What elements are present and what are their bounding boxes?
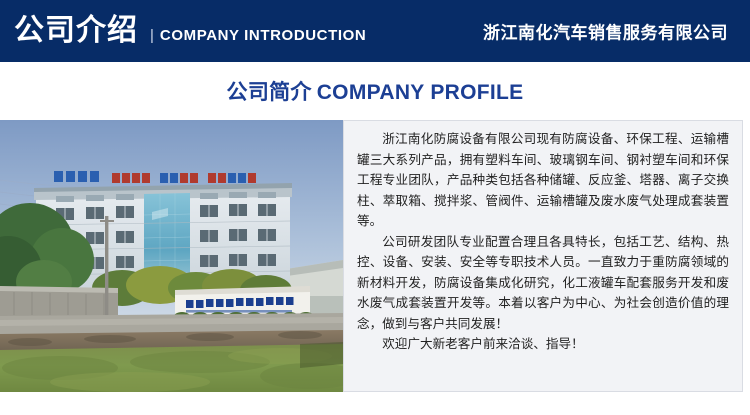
section-title: 公司简介COMPANY PROFILE (227, 76, 524, 106)
header-title-separator: | (150, 27, 154, 44)
section-title-container: 公司简介COMPANY PROFILE (0, 62, 750, 120)
header-title-en: COMPANY INTRODUCTION (160, 27, 366, 44)
profile-paragraph-1: 浙江南化防腐设备有限公司现有防腐设备、环保工程、运输槽罐三大系列产品，拥有塑料车… (357, 129, 729, 232)
header-company-name: 浙江南化汽车销售服务有限公司 (483, 19, 728, 44)
section-title-cn: 公司简介 (227, 81, 312, 104)
profile-paragraph-2: 公司研发团队专业配置合理且各具特长，包括工艺、结构、热控、设备、安装、安全等专职… (357, 232, 729, 335)
company-profile-text-panel: 浙江南化防腐设备有限公司现有防腐设备、环保工程、运输槽罐三大系列产品，拥有塑料车… (343, 120, 743, 392)
rooftop-sign-red (112, 173, 256, 183)
factory-photo-graphic (0, 120, 343, 392)
page-header: 公司介绍 | COMPANY INTRODUCTION 浙江南化汽车销售服务有限… (0, 0, 750, 62)
section-title-en: COMPANY PROFILE (317, 81, 524, 104)
header-title-group: 公司介绍 | COMPANY INTRODUCTION (0, 16, 366, 46)
content-area: 浙江南化防腐设备有限公司现有防腐设备、环保工程、运输槽罐三大系列产品，拥有塑料车… (0, 120, 750, 392)
header-title-cn: 公司介绍 (14, 16, 138, 46)
factory-photo (0, 120, 343, 392)
profile-paragraph-3: 欢迎广大新老客户前来洽谈、指导！ (357, 334, 729, 355)
page-root: 公司介绍 | COMPANY INTRODUCTION 浙江南化汽车销售服务有限… (0, 0, 750, 415)
